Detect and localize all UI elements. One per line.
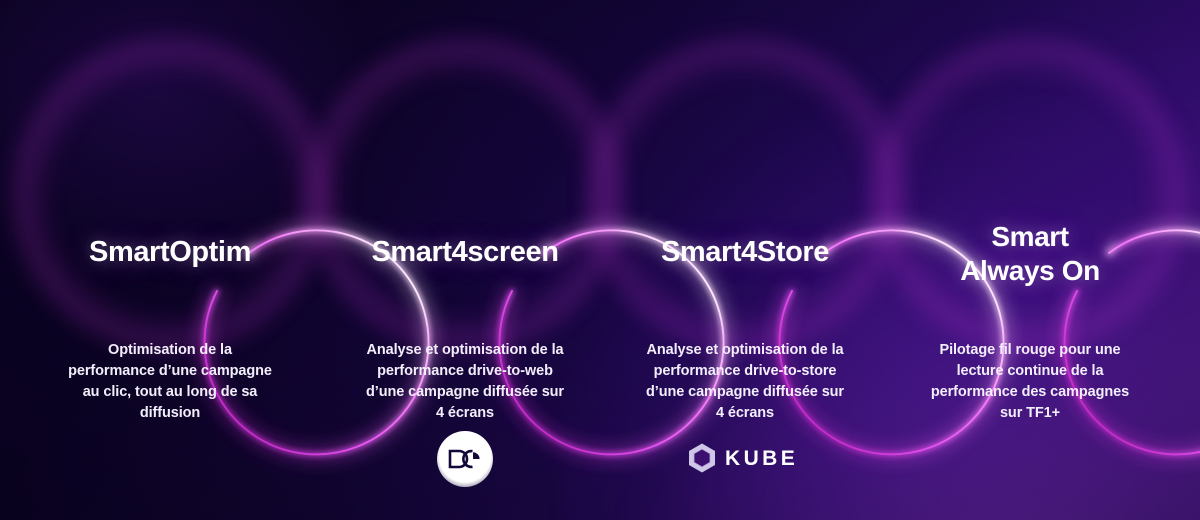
card-title: Smart Always On [910, 220, 1150, 287]
card-title: SmartOptim [50, 237, 290, 268]
dc-monogram-icon [448, 449, 482, 469]
infographic-canvas: SmartOptim Optimisation de la performanc… [0, 0, 1200, 520]
kube-wordmark: KUBE [725, 448, 798, 469]
ring-arc-icon [625, 75, 865, 315]
card-title: Smart4Store [625, 237, 865, 268]
kube-hexagon-icon [687, 442, 717, 474]
card-smart-always-on[interactable]: Smart Always On Pilotage fil rouge pour … [890, 0, 1170, 520]
card-smart4store[interactable]: Smart4Store Analyse et optimisation de l… [605, 0, 885, 520]
neon-ring-smart4screen: Smart4screen [345, 75, 585, 315]
card-row: SmartOptim Optimisation de la performanc… [0, 0, 1200, 520]
card-description: Pilotage fil rouge pour une lecture cont… [898, 340, 1162, 424]
card-description: Analyse et optimisation de la performanc… [333, 340, 597, 424]
card-description: Analyse et optimisation de la performanc… [613, 340, 877, 424]
ring-arc-icon [345, 75, 585, 315]
neon-ring-smart-always-on: Smart Always On [910, 75, 1150, 315]
dc-logo [437, 431, 493, 487]
card-smartoptim[interactable]: SmartOptim Optimisation de la performanc… [30, 0, 310, 520]
card-description: Optimisation de la performance d’une cam… [38, 340, 302, 424]
ring-arc-icon [50, 75, 290, 315]
kube-logo: KUBE [687, 440, 803, 476]
card-smart4screen[interactable]: Smart4screen Analyse et optimisation de … [325, 0, 605, 520]
neon-ring-smart4store: Smart4Store [625, 75, 865, 315]
neon-ring-smartoptim: SmartOptim [50, 75, 290, 315]
card-title: Smart4screen [345, 237, 585, 268]
